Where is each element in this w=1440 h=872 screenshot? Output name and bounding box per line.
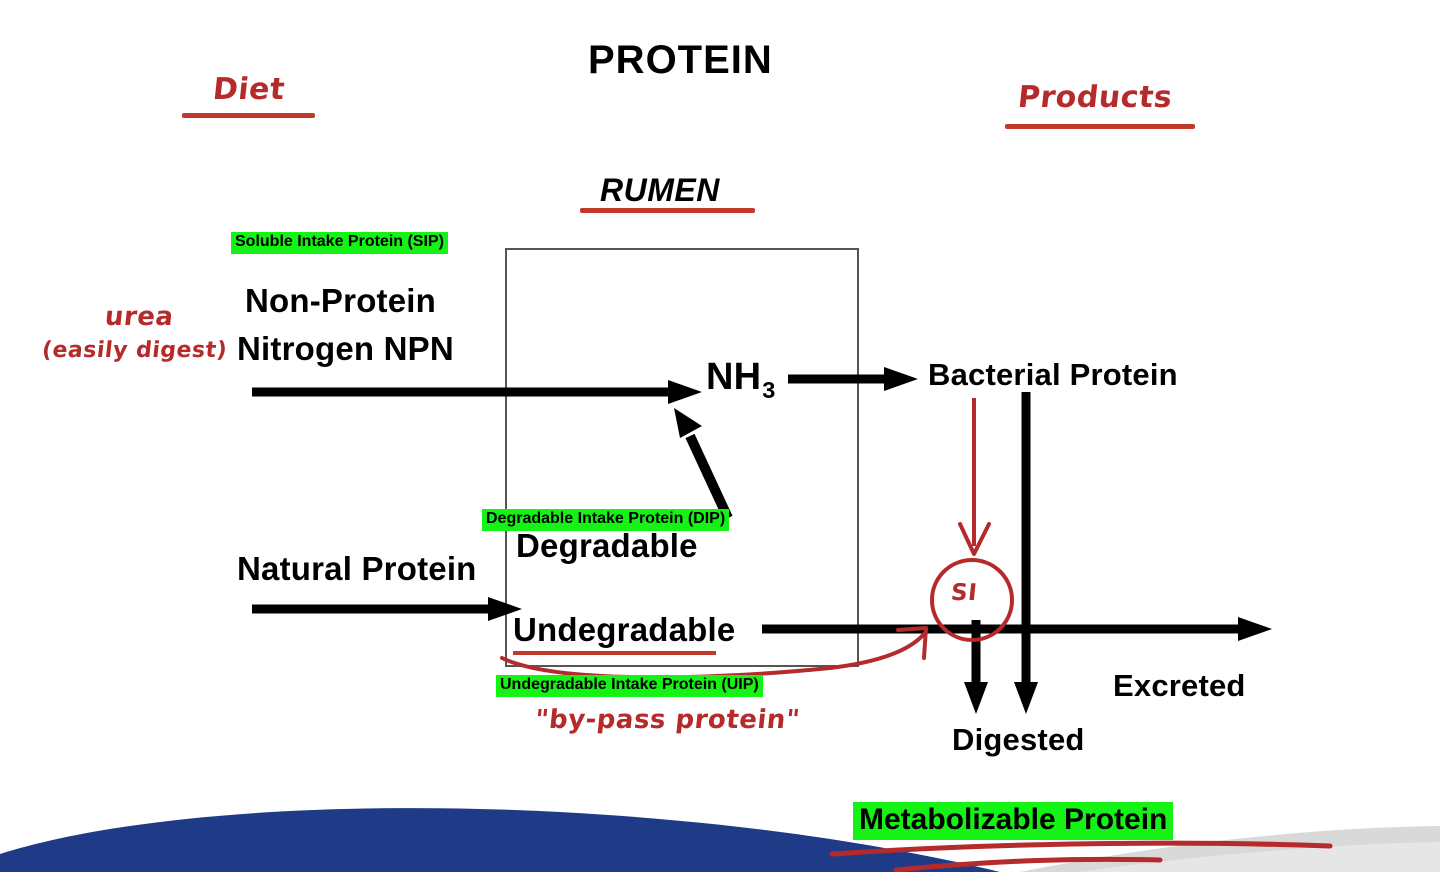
diet-heading-underline bbox=[182, 113, 315, 118]
slide-canvas: PROTEIN Diet Products RUMEN Soluble Inta… bbox=[0, 0, 1440, 872]
highlight-uip-label: Undegradable Intake Protein (UIP) bbox=[496, 675, 763, 697]
urea-annotation: urea bbox=[103, 302, 175, 332]
ammonia-formula: NH bbox=[706, 356, 761, 398]
bypass-protein-red-curve-arrow bbox=[500, 620, 960, 680]
dip-to-ammonia-arrow bbox=[668, 408, 740, 520]
highlight-metabolizable-protein-label: Metabolizable Protein bbox=[853, 802, 1173, 840]
highlight-sip-label: Soluble Intake Protein (SIP) bbox=[231, 232, 448, 254]
page-title: PROTEIN bbox=[588, 38, 773, 83]
metabolizable-protein-underlines bbox=[830, 836, 1350, 872]
rumen-heading-underline bbox=[580, 208, 755, 213]
degradable-label: Degradable bbox=[516, 527, 698, 565]
rumen-heading-label: RUMEN bbox=[600, 172, 720, 209]
bacterial-protein-down-arrow bbox=[1013, 392, 1039, 714]
products-heading-underline bbox=[1005, 124, 1195, 129]
digested-label: Digested bbox=[952, 722, 1085, 758]
bacterial-protein-label: Bacterial Protein bbox=[928, 357, 1178, 393]
natural-protein-arrow bbox=[252, 595, 522, 621]
ammonia-to-bacterial-protein-arrow bbox=[788, 366, 918, 392]
bacterial-protein-to-si-red-arrow bbox=[952, 398, 996, 558]
urea-easily-digest-annotation: (easily digest) bbox=[41, 338, 229, 363]
natural-protein-label: Natural Protein bbox=[237, 550, 477, 588]
npn-label-line1: Non-Protein bbox=[245, 282, 436, 320]
ammonia-subscript: 3 bbox=[761, 377, 775, 403]
diet-heading-label: Diet bbox=[211, 72, 287, 107]
small-intestine-circle-label: SI bbox=[950, 580, 979, 606]
products-heading-label: Products bbox=[1016, 80, 1174, 115]
bypass-protein-annotation: "by-pass protein" bbox=[533, 705, 801, 735]
ammonia-label: NH3 bbox=[706, 356, 776, 404]
excreted-label: Excreted bbox=[1113, 668, 1246, 704]
npn-label-line2: Nitrogen NPN bbox=[237, 330, 454, 368]
npn-to-ammonia-arrow bbox=[252, 378, 702, 404]
